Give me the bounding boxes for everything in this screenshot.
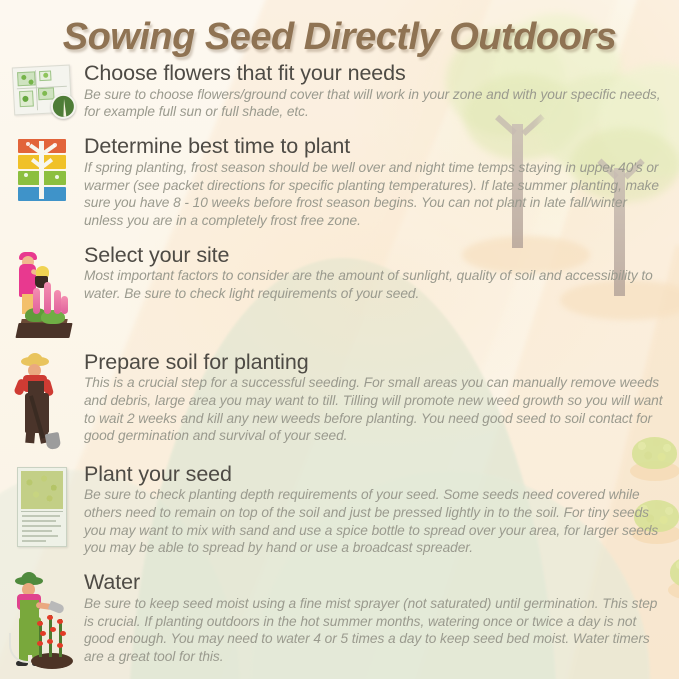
step-icon-container — [0, 351, 84, 451]
flower-bud — [40, 631, 46, 636]
step-body: If spring planting, frost season should … — [84, 159, 665, 230]
packet-textline — [22, 515, 60, 517]
step-text-container: Select your site Most important factors … — [84, 244, 679, 303]
list-item: Select your site Most important factors … — [0, 230, 679, 338]
step-body: Most important factors to consider are t… — [84, 267, 665, 302]
packet-textline — [22, 540, 46, 542]
gardener-watering-icon — [9, 575, 75, 669]
step-title: Plant your seed — [84, 463, 665, 486]
flower-bud — [57, 643, 63, 648]
steps-list: Choose flowers that fit your needs Be su… — [0, 62, 679, 669]
packet-textline — [22, 525, 61, 527]
list-item: Determine best time to plant If spring p… — [0, 121, 679, 229]
step-text-container: Prepare soil for planting This is a cruc… — [84, 351, 679, 445]
flower-stalk — [39, 621, 42, 657]
flower-spike — [54, 290, 61, 314]
step-body: Be sure to keep seed moist using a fine … — [84, 595, 665, 666]
garden-hose — [9, 633, 31, 663]
seed-packet-icon — [17, 467, 67, 547]
list-item: Water Be sure to keep seed moist using a… — [0, 557, 679, 669]
step-title: Water — [84, 571, 665, 594]
compass-icon — [50, 93, 76, 119]
plan-plot — [17, 71, 36, 86]
step-title: Prepare soil for planting — [84, 351, 665, 374]
flower-bud — [57, 619, 63, 624]
garden-plan-compass-icon — [12, 65, 72, 116]
step-body: This is a crucial step for a successful … — [84, 374, 665, 445]
packet-textline — [22, 535, 58, 537]
gardener-with-flowerbed-icon — [11, 248, 73, 338]
packet-textline — [22, 530, 52, 532]
flowerbed-box — [15, 323, 72, 338]
page-title: Sowing Seed Directly Outdoors — [0, 16, 679, 59]
flower-bud — [37, 641, 43, 646]
step-title: Select your site — [84, 244, 665, 267]
flower-stalk — [59, 619, 62, 657]
flower-bud — [47, 615, 53, 620]
flower-stalk — [49, 615, 52, 657]
step-icon-container — [0, 244, 84, 338]
step-text-container: Plant your seed Be sure to check plantin… — [84, 463, 679, 557]
soil-mound — [31, 653, 73, 669]
list-item: Choose flowers that fit your needs Be su… — [0, 62, 679, 121]
sprayer-nozzle-icon — [48, 601, 65, 615]
tree-trunk — [39, 141, 44, 199]
list-item: Plant your seed Be sure to check plantin… — [0, 451, 679, 557]
list-item: Prepare soil for planting This is a cruc… — [0, 338, 679, 451]
infographic-poster: Sowing Seed Directly Outdoors — [0, 0, 679, 679]
packet-divider — [21, 511, 63, 512]
flower-spike — [44, 282, 51, 314]
step-body: Be sure to choose flowers/ground cover t… — [84, 86, 665, 121]
step-text-container: Choose flowers that fit your needs Be su… — [84, 62, 679, 121]
step-title: Choose flowers that fit your needs — [84, 62, 665, 85]
gardener-leg — [25, 424, 36, 443]
flower-spike — [61, 296, 68, 314]
flower-bud — [37, 621, 43, 626]
step-icon-container — [0, 62, 84, 114]
gardener-with-shovel-icon — [13, 355, 71, 451]
step-text-container: Water Be sure to keep seed moist using a… — [84, 571, 679, 665]
packet-photo — [21, 471, 63, 509]
four-seasons-icon — [18, 139, 66, 201]
step-body: Be sure to check planting depth requirem… — [84, 486, 665, 557]
step-text-container: Determine best time to plant If spring p… — [84, 135, 679, 229]
flower-bud — [47, 639, 53, 644]
packet-textline — [22, 520, 56, 522]
shovel-blade — [45, 431, 62, 449]
flower-spike — [33, 288, 40, 314]
flower-bud — [50, 627, 56, 632]
step-icon-container — [0, 571, 84, 669]
step-icon-container — [0, 463, 84, 547]
step-title: Determine best time to plant — [84, 135, 665, 158]
flower-bud — [60, 631, 66, 636]
step-icon-container — [0, 135, 84, 201]
